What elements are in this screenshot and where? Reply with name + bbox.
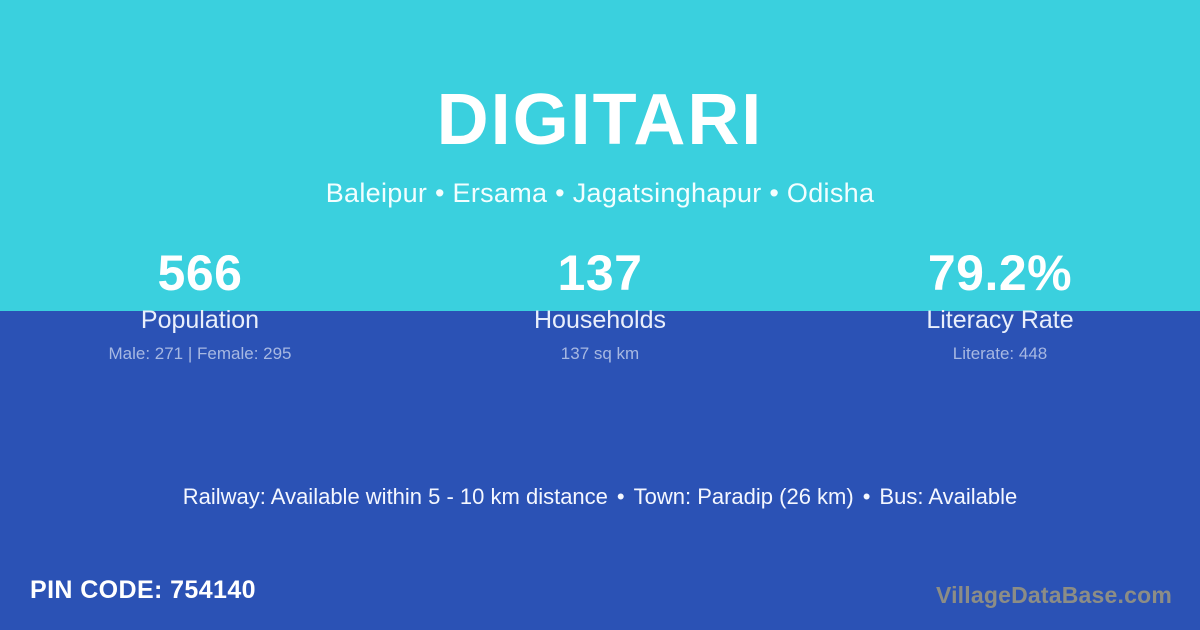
stat-value: 566 xyxy=(0,246,400,301)
amenity-separator-icon: • xyxy=(608,484,634,510)
stat-label: Households xyxy=(400,307,800,335)
stat-label: Literacy Rate xyxy=(800,307,1200,335)
page-title: DIGITARI xyxy=(0,84,1200,156)
stat-value: 137 xyxy=(400,246,800,301)
amenity-railway: Railway: Available within 5 - 10 km dist… xyxy=(183,484,608,509)
stat-population: 566 Population Male: 271 | Female: 295 xyxy=(0,246,400,363)
amenity-town: Town: Paradip (26 km) xyxy=(634,484,854,509)
stat-sub: 137 sq km xyxy=(400,345,800,364)
amenity-bus: Bus: Available xyxy=(879,484,1017,509)
breadcrumb: Baleipur • Ersama • Jagatsinghapur • Odi… xyxy=(0,180,1200,207)
stat-households: 137 Households 137 sq km xyxy=(400,246,800,363)
amenity-separator-icon: • xyxy=(854,484,880,510)
stat-sub: Male: 271 | Female: 295 xyxy=(0,345,400,364)
stats-row: 566 Population Male: 271 | Female: 295 1… xyxy=(0,246,1200,363)
village-info-card: DIGITARI Baleipur • Ersama • Jagatsingha… xyxy=(0,0,1200,630)
stat-label: Population xyxy=(0,307,400,335)
site-watermark: VillageDataBase.com xyxy=(936,582,1172,610)
amenities-line: Railway: Available within 5 - 10 km dist… xyxy=(0,484,1200,510)
pin-code: PIN CODE: 754140 xyxy=(30,575,256,605)
card-header: DIGITARI Baleipur • Ersama • Jagatsingha… xyxy=(0,0,1200,207)
stat-value: 79.2% xyxy=(800,246,1200,301)
stat-sub: Literate: 448 xyxy=(800,345,1200,364)
stat-literacy-rate: 79.2% Literacy Rate Literate: 448 xyxy=(800,246,1200,363)
